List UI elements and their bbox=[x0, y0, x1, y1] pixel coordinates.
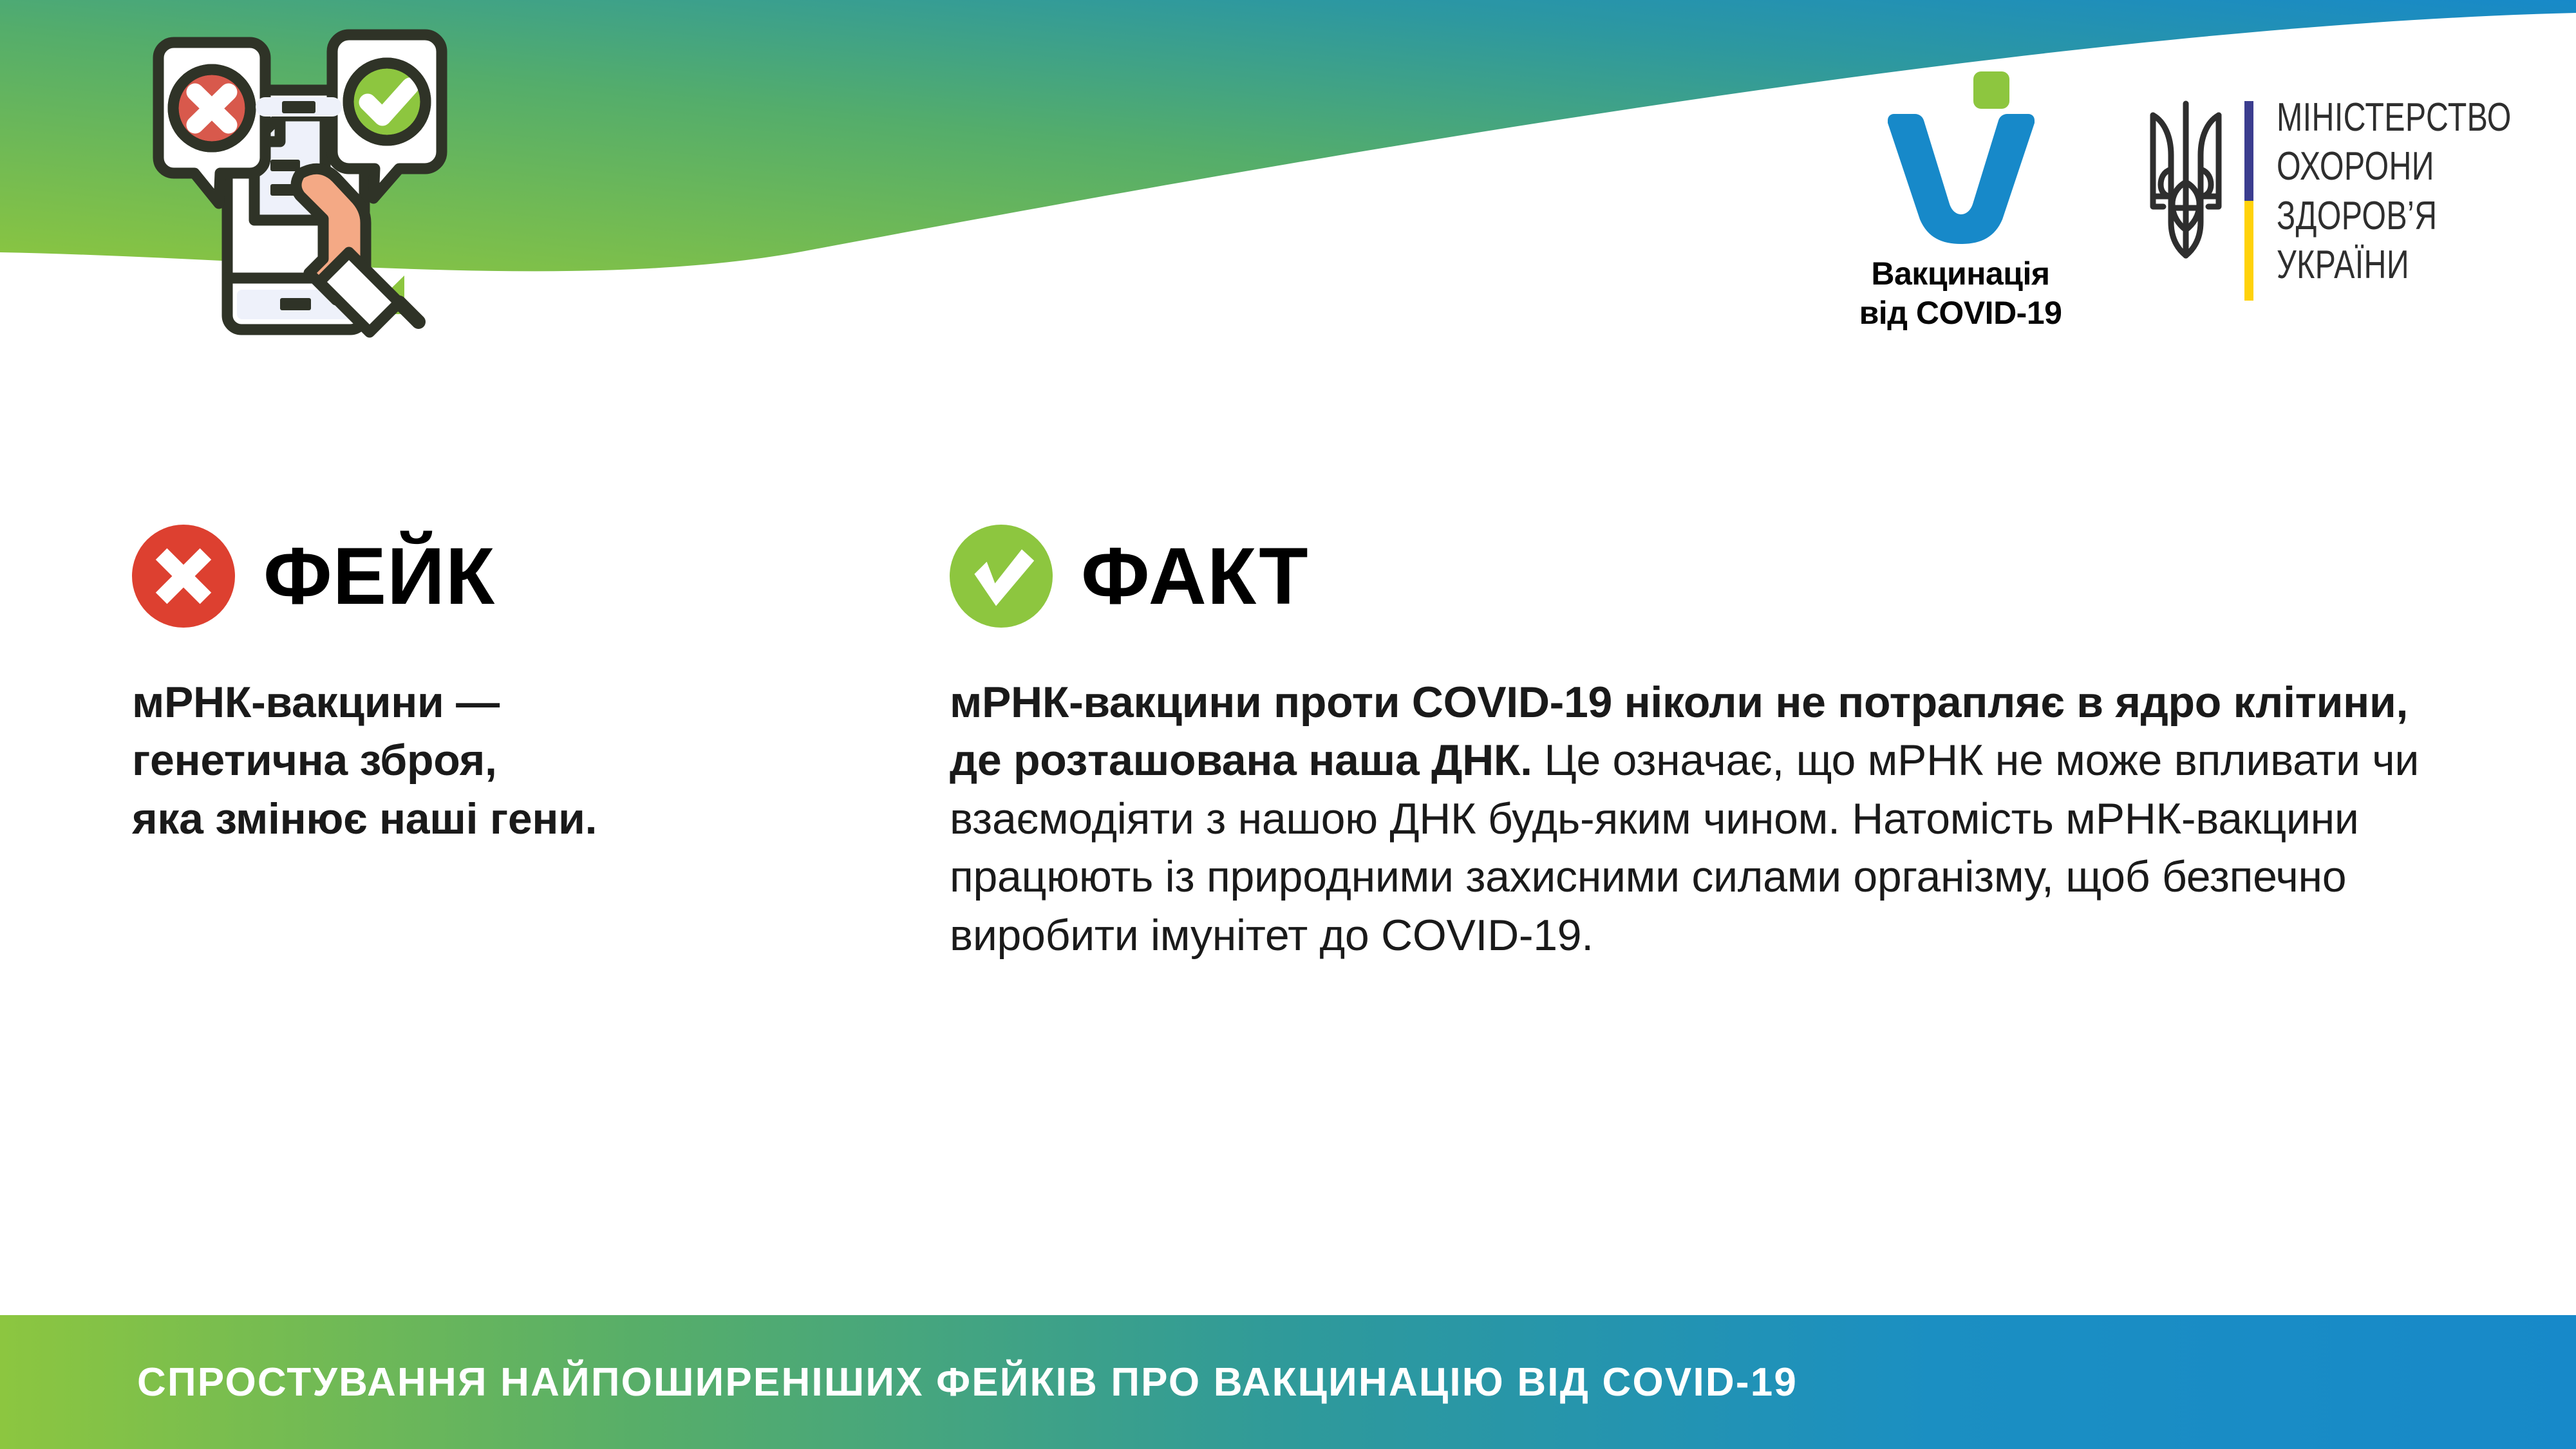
fact-heading-row: ФАКТ bbox=[950, 521, 2463, 631]
bottom-banner-text: СПРОСТУВАННЯ НАЙПОШИРЕНІШИХ ФЕЙКІВ ПРО В… bbox=[137, 1360, 1798, 1405]
ministry-of-health-logo: МІНІСТЕРСТВО ОХОРОНИ ЗДОРОВ’Я УКРАЇНИ bbox=[2144, 93, 2576, 301]
check-circle-icon bbox=[950, 525, 1053, 628]
ministry-line-3: ЗДОРОВ’Я bbox=[2277, 192, 2512, 241]
slide-canvas: Вакцинація від COVID-19 МІНІСТЕРС bbox=[0, 0, 2576, 1449]
ministry-name-block: МІНІСТЕРСТВО ОХОРОНИ ЗДОРОВ’Я УКРАЇНИ bbox=[2277, 93, 2512, 290]
vaccination-v-icon bbox=[1854, 68, 2067, 248]
vaccination-logo-caption: Вакцинація від COVID-19 bbox=[1859, 254, 2062, 333]
fake-vs-fact-phone-illustration bbox=[97, 26, 509, 386]
fake-body-text: мРНК-вакцини — генетична зброя, яка змін… bbox=[132, 673, 853, 848]
fake-heading-row: ФЕЙК bbox=[132, 521, 853, 631]
ministry-line-1: МІНІСТЕРСТВО bbox=[2277, 93, 2512, 142]
cross-circle-icon bbox=[132, 525, 235, 628]
ministry-line-4: УКРАЇНИ bbox=[2277, 241, 2512, 290]
fact-column: ФАКТ мРНК-вакцини проти COVID-19 ніколи … bbox=[950, 521, 2463, 964]
ukraine-flag-divider bbox=[2244, 101, 2253, 301]
ministry-line-2: ОХОРОНИ bbox=[2277, 142, 2512, 191]
fact-body-text: мРНК-вакцини проти COVID-19 ніколи не по… bbox=[950, 673, 2463, 964]
ukraine-trident-icon bbox=[2144, 93, 2228, 274]
vaccination-logo: Вакцинація від COVID-19 bbox=[1841, 68, 2080, 338]
fact-heading-label: ФАКТ bbox=[1081, 536, 1309, 617]
bottom-banner: СПРОСТУВАННЯ НАЙПОШИРЕНІШИХ ФЕЙКІВ ПРО В… bbox=[0, 1315, 2576, 1449]
fake-heading-label: ФЕЙК bbox=[263, 536, 495, 617]
fake-column: ФЕЙК мРНК-вакцини — генетична зброя, яка… bbox=[132, 521, 853, 848]
